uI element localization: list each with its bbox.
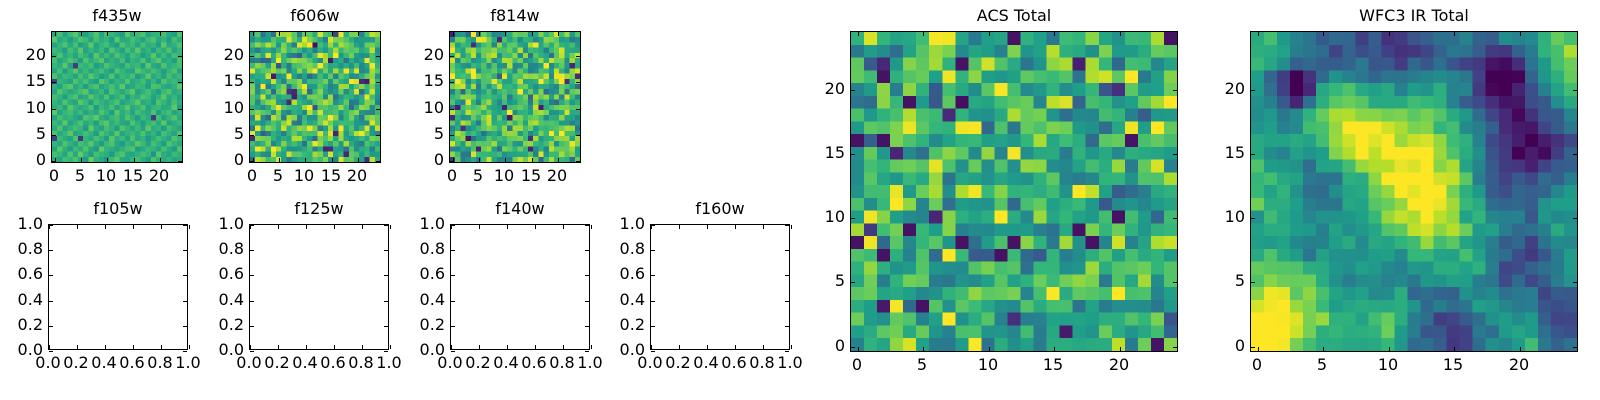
y-tick-mark <box>1251 347 1255 348</box>
x-tick-mark-top <box>1323 32 1324 36</box>
y-tick-mark-right <box>178 161 182 162</box>
y-tick-mark <box>450 56 454 57</box>
x-tick-label: 0.6 <box>320 355 345 371</box>
y-tick-label: 10 <box>802 209 845 225</box>
y-tick-mark-right <box>376 109 380 110</box>
y-tick-label: 0.6 <box>402 266 445 282</box>
y-tick-label: 1.0 <box>602 216 645 232</box>
panel-f606w <box>249 31 381 163</box>
y-tick-mark <box>49 275 53 276</box>
x-tick-label: 10 <box>978 357 998 373</box>
y-tick-mark-right <box>376 135 380 136</box>
y-tick-mark <box>52 109 56 110</box>
x-tick-mark <box>189 345 190 349</box>
panel-title-f435w: f435w <box>92 8 141 24</box>
x-tick-mark <box>305 158 306 162</box>
x-tick-mark-top <box>278 225 279 229</box>
y-tick-label: 0 <box>401 152 444 168</box>
y-tick-mark <box>651 351 655 352</box>
x-tick-mark <box>505 158 506 162</box>
x-tick-mark <box>49 345 50 349</box>
x-tick-label: 0.6 <box>521 355 546 371</box>
y-tick-mark-right <box>1173 282 1177 283</box>
y-tick-label: 0.0 <box>602 342 645 358</box>
x-tick-mark-top <box>305 32 306 36</box>
panel-title-acs-total: ACS Total <box>977 8 1051 24</box>
y-tick-mark-right <box>1173 347 1177 348</box>
y-tick-mark-right <box>785 301 789 302</box>
y-tick-mark <box>450 161 454 162</box>
x-tick-mark <box>134 158 135 162</box>
y-tick-label: 0.8 <box>0 241 43 257</box>
x-tick-mark <box>250 345 251 349</box>
y-tick-mark <box>451 225 455 226</box>
y-tick-mark <box>250 301 254 302</box>
y-tick-mark <box>250 135 254 136</box>
y-tick-mark-right <box>376 56 380 57</box>
y-tick-label: 1.0 <box>0 216 43 232</box>
y-tick-mark <box>450 109 454 110</box>
x-tick-mark <box>1258 347 1259 351</box>
y-tick-mark-right <box>1173 154 1177 155</box>
x-tick-mark <box>507 345 508 349</box>
x-tick-mark-top <box>1520 32 1521 36</box>
x-tick-mark-top <box>535 225 536 229</box>
y-tick-mark-right <box>376 161 380 162</box>
y-tick-mark-right <box>384 351 388 352</box>
heatmap-image-f814w <box>450 32 580 162</box>
x-tick-label: 15 <box>1043 357 1063 373</box>
x-tick-mark <box>735 345 736 349</box>
x-tick-mark-top <box>507 225 508 229</box>
x-tick-mark <box>358 158 359 162</box>
y-tick-mark-right <box>785 225 789 226</box>
y-tick-label: 0.8 <box>602 241 645 257</box>
x-tick-label: 10 <box>494 168 514 184</box>
x-tick-label: 10 <box>96 168 116 184</box>
x-tick-mark-top <box>1120 32 1121 36</box>
x-tick-mark-top <box>679 225 680 229</box>
x-tick-mark-top <box>479 225 480 229</box>
x-tick-mark-top <box>306 225 307 229</box>
x-tick-mark-top <box>358 32 359 36</box>
y-tick-mark <box>49 301 53 302</box>
x-tick-label: 0.4 <box>493 355 518 371</box>
y-tick-mark-right <box>585 301 589 302</box>
y-tick-label: 0.6 <box>201 266 244 282</box>
y-tick-label: 15 <box>401 73 444 89</box>
panel-f105w <box>48 224 188 350</box>
x-tick-mark-top <box>1258 32 1259 36</box>
y-tick-label: 10 <box>1202 209 1245 225</box>
x-tick-mark-top <box>334 225 335 229</box>
y-tick-mark-right <box>576 161 580 162</box>
y-tick-mark <box>250 225 254 226</box>
y-tick-label: 0.0 <box>201 342 244 358</box>
y-tick-mark <box>851 347 855 348</box>
y-tick-mark-right <box>183 250 187 251</box>
x-tick-mark <box>563 345 564 349</box>
x-tick-label: 0.4 <box>693 355 718 371</box>
x-tick-label: 0.8 <box>549 355 574 371</box>
x-tick-mark-top <box>989 32 990 36</box>
x-tick-label: 20 <box>1109 357 1129 373</box>
y-tick-mark <box>651 225 655 226</box>
panel-acs-total <box>850 31 1178 352</box>
y-tick-mark-right <box>585 351 589 352</box>
x-tick-mark <box>77 345 78 349</box>
y-tick-mark <box>851 90 855 91</box>
y-tick-mark <box>49 225 53 226</box>
panel-title-f606w: f606w <box>290 8 339 24</box>
x-tick-mark <box>334 345 335 349</box>
y-tick-label: 0.2 <box>0 317 43 333</box>
y-tick-mark <box>651 275 655 276</box>
y-tick-mark <box>451 351 455 352</box>
y-tick-label: 5 <box>201 126 244 142</box>
x-tick-mark <box>1454 347 1455 351</box>
x-tick-label: 0 <box>1252 357 1262 373</box>
y-tick-mark-right <box>576 135 580 136</box>
y-tick-mark <box>451 301 455 302</box>
panel-f435w <box>51 31 183 163</box>
y-tick-mark <box>451 250 455 251</box>
x-tick-mark <box>858 347 859 351</box>
x-tick-label: 15 <box>521 168 541 184</box>
y-tick-label: 1.0 <box>201 216 244 232</box>
x-tick-mark <box>362 345 363 349</box>
x-tick-label: 15 <box>321 168 341 184</box>
x-tick-label: 0 <box>247 168 257 184</box>
y-tick-mark-right <box>1173 90 1177 91</box>
x-tick-mark-top <box>253 32 254 36</box>
y-tick-mark <box>49 250 53 251</box>
y-tick-mark-right <box>183 275 187 276</box>
x-tick-mark <box>479 158 480 162</box>
x-tick-label: 5 <box>273 168 283 184</box>
x-tick-mark-top <box>362 225 363 229</box>
y-tick-mark-right <box>384 301 388 302</box>
x-tick-mark-top <box>453 32 454 36</box>
x-tick-mark-top <box>55 32 56 36</box>
y-tick-mark <box>1251 218 1255 219</box>
x-tick-label: 1.0 <box>175 355 200 371</box>
y-tick-mark-right <box>585 275 589 276</box>
panel-title-f125w: f125w <box>294 201 343 217</box>
y-tick-mark-right <box>384 225 388 226</box>
x-tick-mark <box>558 158 559 162</box>
x-tick-mark-top <box>1389 32 1390 36</box>
x-tick-mark <box>532 158 533 162</box>
y-tick-mark-right <box>178 109 182 110</box>
x-tick-label: 20 <box>149 168 169 184</box>
x-tick-label: 15 <box>123 168 143 184</box>
y-tick-mark-right <box>384 326 388 327</box>
y-tick-label: 0.4 <box>402 292 445 308</box>
x-tick-label: 0 <box>447 168 457 184</box>
y-tick-label: 5 <box>802 273 845 289</box>
x-tick-mark <box>390 345 391 349</box>
y-tick-label: 0.6 <box>0 266 43 282</box>
y-tick-mark <box>250 109 254 110</box>
y-tick-mark-right <box>576 82 580 83</box>
x-tick-label: 0.2 <box>465 355 490 371</box>
y-tick-mark-right <box>1573 282 1577 283</box>
y-tick-label: 0.4 <box>201 292 244 308</box>
x-tick-mark <box>160 158 161 162</box>
y-tick-mark <box>451 326 455 327</box>
x-tick-label: 0.8 <box>147 355 172 371</box>
panel-wfc3-ir-total <box>1250 31 1578 352</box>
x-tick-mark <box>535 345 536 349</box>
y-tick-label: 0.0 <box>0 342 43 358</box>
y-tick-mark-right <box>1173 218 1177 219</box>
x-tick-mark <box>133 345 134 349</box>
y-tick-mark <box>450 135 454 136</box>
y-tick-mark-right <box>1573 347 1577 348</box>
x-tick-mark-top <box>558 32 559 36</box>
y-tick-mark <box>49 351 53 352</box>
y-tick-label: 20 <box>401 47 444 63</box>
x-tick-mark <box>763 345 764 349</box>
y-tick-mark-right <box>585 326 589 327</box>
x-tick-mark-top <box>763 225 764 229</box>
x-tick-mark-top <box>160 32 161 36</box>
x-tick-mark <box>451 345 452 349</box>
x-tick-mark <box>1520 347 1521 351</box>
y-tick-mark <box>49 326 53 327</box>
y-tick-label: 0 <box>3 152 46 168</box>
x-tick-mark-top <box>107 32 108 36</box>
y-tick-label: 20 <box>3 47 46 63</box>
x-tick-mark-top <box>735 225 736 229</box>
x-tick-mark <box>278 345 279 349</box>
x-tick-mark <box>923 347 924 351</box>
x-tick-mark-top <box>134 32 135 36</box>
y-tick-label: 1.0 <box>402 216 445 232</box>
x-tick-label: 0.2 <box>63 355 88 371</box>
x-tick-mark <box>1323 347 1324 351</box>
y-tick-mark-right <box>785 351 789 352</box>
y-tick-label: 0 <box>1202 338 1245 354</box>
x-tick-mark-top <box>133 225 134 229</box>
y-tick-label: 5 <box>401 126 444 142</box>
x-tick-mark-top <box>81 32 82 36</box>
y-tick-label: 0.4 <box>0 292 43 308</box>
x-tick-mark-top <box>105 225 106 229</box>
panel-title-wfc3-ir-total: WFC3 IR Total <box>1359 8 1469 24</box>
figure-canvas: f435w0510152005101520f606w05101520051015… <box>0 0 1600 400</box>
y-tick-label: 0.8 <box>402 241 445 257</box>
x-tick-mark <box>1389 347 1390 351</box>
y-tick-mark-right <box>183 225 187 226</box>
y-tick-mark <box>851 154 855 155</box>
x-tick-label: 0 <box>49 168 59 184</box>
x-tick-label: 10 <box>1378 357 1398 373</box>
y-tick-mark-right <box>585 250 589 251</box>
x-tick-mark-top <box>332 32 333 36</box>
y-tick-label: 0 <box>201 152 244 168</box>
x-tick-label: 5 <box>473 168 483 184</box>
x-tick-mark-top <box>479 32 480 36</box>
y-tick-mark <box>250 82 254 83</box>
y-tick-label: 15 <box>1202 145 1245 161</box>
x-tick-mark <box>1054 347 1055 351</box>
y-tick-mark <box>52 135 56 136</box>
x-tick-label: 1.0 <box>376 355 401 371</box>
y-tick-mark <box>250 250 254 251</box>
y-tick-label: 15 <box>3 73 46 89</box>
y-tick-mark <box>450 82 454 83</box>
y-tick-mark-right <box>376 82 380 83</box>
x-tick-label: 0.6 <box>721 355 746 371</box>
y-tick-mark <box>451 275 455 276</box>
y-tick-mark-right <box>384 250 388 251</box>
x-tick-label: 5 <box>1317 357 1327 373</box>
y-tick-label: 20 <box>201 47 244 63</box>
x-tick-mark <box>1120 347 1121 351</box>
panel-title-f814w: f814w <box>490 8 539 24</box>
x-tick-mark-top <box>1454 32 1455 36</box>
y-tick-label: 15 <box>802 145 845 161</box>
y-tick-mark-right <box>785 326 789 327</box>
x-tick-label: 15 <box>1443 357 1463 373</box>
heatmap-image-f435w <box>52 32 182 162</box>
y-tick-mark <box>851 218 855 219</box>
y-tick-mark <box>250 161 254 162</box>
y-tick-mark <box>851 282 855 283</box>
x-tick-mark-top <box>77 225 78 229</box>
x-tick-mark <box>332 158 333 162</box>
x-tick-label: 5 <box>917 357 927 373</box>
y-tick-mark-right <box>178 135 182 136</box>
x-tick-mark <box>479 345 480 349</box>
x-tick-mark <box>105 345 106 349</box>
heatmap-image-f606w <box>250 32 380 162</box>
y-tick-label: 5 <box>3 126 46 142</box>
x-tick-mark <box>791 345 792 349</box>
x-tick-mark-top <box>505 32 506 36</box>
y-tick-mark <box>1251 154 1255 155</box>
y-tick-mark <box>651 326 655 327</box>
panel-f140w <box>450 224 590 350</box>
y-tick-label: 10 <box>201 100 244 116</box>
x-tick-mark-top <box>189 225 190 229</box>
x-tick-mark-top <box>923 32 924 36</box>
y-tick-label: 0 <box>802 338 845 354</box>
y-tick-label: 0.0 <box>402 342 445 358</box>
x-tick-label: 20 <box>347 168 367 184</box>
x-tick-label: 0.8 <box>348 355 373 371</box>
x-tick-mark-top <box>563 225 564 229</box>
y-tick-mark-right <box>178 82 182 83</box>
y-tick-mark <box>52 56 56 57</box>
x-tick-mark <box>161 345 162 349</box>
y-tick-mark-right <box>576 109 580 110</box>
x-tick-mark <box>81 158 82 162</box>
y-tick-mark-right <box>785 250 789 251</box>
y-tick-label: 0.2 <box>602 317 645 333</box>
x-tick-label: 1.0 <box>577 355 602 371</box>
y-tick-mark <box>250 326 254 327</box>
y-tick-mark-right <box>183 326 187 327</box>
y-tick-label: 0.4 <box>602 292 645 308</box>
x-tick-mark <box>707 345 708 349</box>
y-tick-mark-right <box>785 275 789 276</box>
y-tick-mark <box>651 250 655 251</box>
y-tick-mark-right <box>1573 90 1577 91</box>
y-tick-mark <box>250 351 254 352</box>
y-tick-label: 20 <box>1202 81 1245 97</box>
panel-title-f140w: f140w <box>495 201 544 217</box>
x-tick-mark-top <box>1054 32 1055 36</box>
y-tick-label: 0.6 <box>602 266 645 282</box>
x-tick-mark-top <box>591 225 592 229</box>
y-tick-mark-right <box>384 275 388 276</box>
x-tick-mark <box>279 158 280 162</box>
y-tick-label: 0.2 <box>201 317 244 333</box>
x-tick-label: 1.0 <box>777 355 802 371</box>
x-tick-mark <box>989 347 990 351</box>
y-tick-mark <box>52 82 56 83</box>
x-tick-mark-top <box>707 225 708 229</box>
x-tick-mark-top <box>858 32 859 36</box>
y-tick-label: 10 <box>401 100 444 116</box>
y-tick-mark-right <box>178 56 182 57</box>
y-tick-label: 5 <box>1202 273 1245 289</box>
y-tick-mark-right <box>585 225 589 226</box>
x-tick-mark-top <box>161 225 162 229</box>
y-tick-label: 10 <box>3 100 46 116</box>
panel-f160w <box>650 224 790 350</box>
x-tick-label: 0 <box>852 357 862 373</box>
y-tick-mark <box>1251 90 1255 91</box>
heatmap-image-wfc3-ir-total <box>1251 32 1577 351</box>
x-tick-label: 0.4 <box>292 355 317 371</box>
x-tick-mark <box>591 345 592 349</box>
panel-f814w <box>449 31 581 163</box>
x-tick-mark-top <box>279 32 280 36</box>
y-tick-label: 0.8 <box>201 241 244 257</box>
x-tick-mark <box>306 345 307 349</box>
x-tick-mark-top <box>532 32 533 36</box>
panel-title-f105w: f105w <box>93 201 142 217</box>
y-tick-mark <box>52 161 56 162</box>
y-tick-mark <box>651 301 655 302</box>
x-tick-label: 0.6 <box>119 355 144 371</box>
y-tick-mark-right <box>183 301 187 302</box>
x-tick-label: 0.4 <box>91 355 116 371</box>
x-tick-label: 0.2 <box>264 355 289 371</box>
x-tick-mark <box>107 158 108 162</box>
y-tick-mark <box>1251 282 1255 283</box>
x-tick-mark-top <box>390 225 391 229</box>
x-tick-mark <box>651 345 652 349</box>
heatmap-image-acs-total <box>851 32 1177 351</box>
x-tick-label: 20 <box>547 168 567 184</box>
y-tick-label: 15 <box>201 73 244 89</box>
x-tick-label: 0.2 <box>665 355 690 371</box>
x-tick-label: 5 <box>75 168 85 184</box>
y-tick-mark-right <box>1573 154 1577 155</box>
x-tick-mark-top <box>791 225 792 229</box>
x-tick-label: 10 <box>294 168 314 184</box>
y-tick-label: 0.2 <box>402 317 445 333</box>
y-tick-label: 20 <box>802 81 845 97</box>
x-tick-mark <box>679 345 680 349</box>
y-tick-mark-right <box>183 351 187 352</box>
x-tick-label: 20 <box>1509 357 1529 373</box>
